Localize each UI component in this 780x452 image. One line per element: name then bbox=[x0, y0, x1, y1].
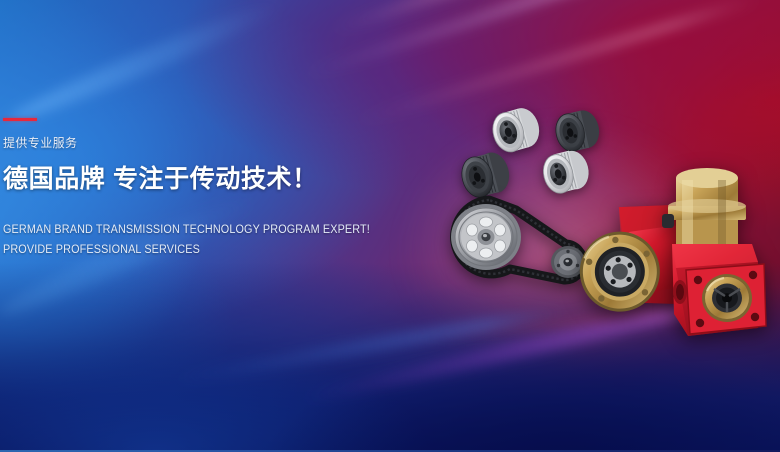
right-angle-gearbox-right bbox=[652, 164, 780, 344]
subtitle-line-2: PROVIDE PROFESSIONAL SERVICES bbox=[3, 240, 370, 260]
promo-banner: 提供专业服务 德国品牌 专注于传动技术！ GERMAN BRAND TRANSM… bbox=[0, 0, 780, 452]
subtitle-line-1: GERMAN BRAND TRANSMISSION TECHNOLOGY PRO… bbox=[3, 220, 370, 240]
timing-pulley-light-2 bbox=[534, 146, 598, 198]
accent-rule bbox=[3, 118, 37, 121]
eyebrow-text: 提供专业服务 bbox=[3, 137, 393, 149]
banner-copy: 提供专业服务 德国品牌 专注于传动技术！ GERMAN BRAND TRANSM… bbox=[3, 118, 393, 260]
page-title: 德国品牌 专注于传动技术！ bbox=[3, 166, 393, 192]
